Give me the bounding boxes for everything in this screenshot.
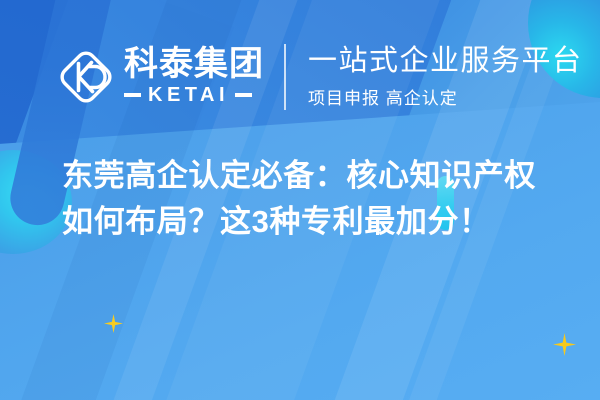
logo-dash-left-icon [124, 93, 141, 97]
slogan-sub-text: 项目申报 高企认定 [308, 84, 583, 109]
banner-header: 科泰集团 KETAI 一站式企业服务平台 项目申报 高企认定 [0, 38, 600, 116]
logo-company-name-cn: 科泰集团 [124, 47, 264, 82]
sparkle-star-left [104, 314, 123, 333]
ketai-diamond-kd-logo-icon [56, 46, 116, 108]
vertical-divider [284, 44, 286, 110]
headline-line-2: 如何布局？这3种专利最加分！ [62, 199, 562, 245]
headline-line-1: 东莞高企认定必备：核心知识产权 [62, 153, 562, 199]
slogan-block: 一站式企业服务平台 项目申报 高企认定 [308, 45, 583, 108]
headline-block: 东莞高企认定必备：核心知识产权 如何布局？这3种专利最加分！ [62, 153, 562, 244]
logo-en-row: KETAI [124, 84, 264, 107]
logo-dash-right-icon [235, 93, 252, 97]
logo-wordmark: 科泰集团 KETAI [124, 47, 264, 107]
sparkle-star-right [553, 333, 576, 356]
promo-banner: 科泰集团 KETAI 一站式企业服务平台 项目申报 高企认定 东莞高企认定必备：… [0, 0, 600, 400]
logo-company-name-en: KETAI [148, 84, 229, 107]
slogan-main-text: 一站式企业服务平台 [308, 45, 583, 78]
